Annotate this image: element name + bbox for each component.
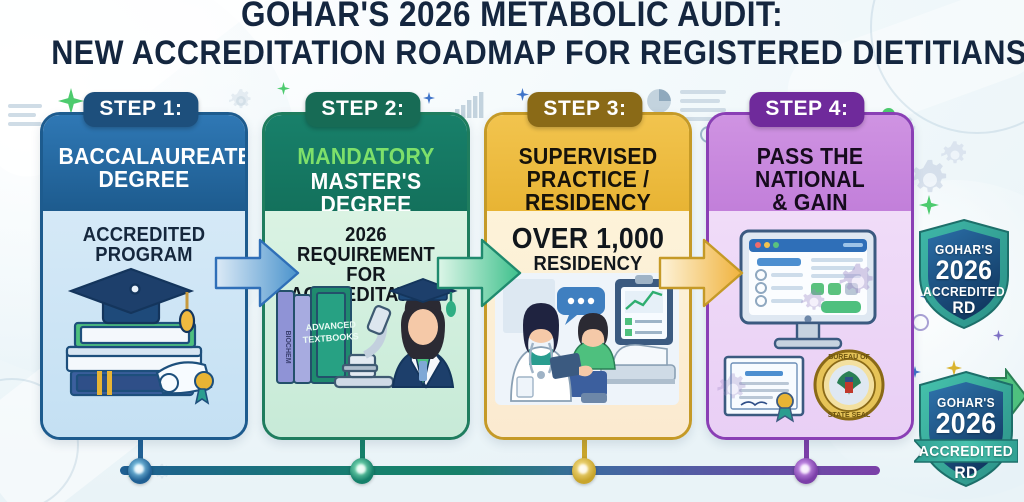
step-3-header: SUPERVISED PRACTICE / RESIDENCY bbox=[487, 115, 689, 211]
timeline-node-step-3[interactable] bbox=[572, 458, 596, 484]
step-4-heading-line-1: PASS THE NATIONAL bbox=[724, 145, 895, 191]
timeline-node-step-4[interactable] bbox=[794, 458, 818, 484]
step-3-heading-line-1: SUPERVISED bbox=[502, 145, 673, 168]
gear-icon bbox=[838, 262, 878, 307]
step-2-heading-line-1: MANDATORY bbox=[280, 145, 451, 168]
badge-top-line-3: ACCREDITED bbox=[920, 284, 1008, 299]
title-line-2: NEW ACCREDITATION ROADMAP FOR REGISTERED… bbox=[51, 35, 973, 71]
step-2-heading-line-2: MASTER'S DEGREE bbox=[280, 170, 451, 216]
step-4-header: PASS THE NATIONAL & GAIN LICENSURE bbox=[709, 115, 911, 211]
accreditation-badge-bottom[interactable]: GOHAR'S 2026 ACCREDITED RD bbox=[914, 368, 1018, 495]
sparkle-icon bbox=[277, 82, 290, 95]
dietitian-counseling-patient-illustration bbox=[495, 273, 679, 410]
textbooks-microscope-graduate-illustration: ADVANCED TEXTBOOKS BIOCHEM bbox=[273, 269, 459, 414]
badge-bottom-line-3: ACCREDITED bbox=[918, 443, 1014, 460]
svg-text:BIOCHEM: BIOCHEM bbox=[284, 330, 291, 363]
step-3-heading-line-2: PRACTICE / RESIDENCY bbox=[502, 168, 673, 214]
arrow-step2-to-step3 bbox=[436, 236, 522, 310]
step-1-header: BACCALAUREATE DEGREE bbox=[43, 115, 245, 211]
accreditation-badge-top[interactable]: GOHAR'S 2026 ACCREDITED RD bbox=[916, 218, 1012, 335]
badge-bottom-line-4: RD bbox=[918, 463, 1014, 483]
arrow-step3-to-step4 bbox=[658, 236, 744, 310]
sparkle-icon bbox=[423, 92, 435, 104]
step-4-pill: STEP 4: bbox=[749, 92, 864, 127]
timeline-node-step-1[interactable] bbox=[128, 458, 152, 484]
step-1-body-line-1: ACCREDITED bbox=[60, 225, 227, 245]
sparkle-icon bbox=[58, 88, 84, 114]
step-2-header: MANDATORY MASTER'S DEGREE bbox=[265, 115, 467, 211]
step-2-pill: STEP 2: bbox=[305, 92, 420, 127]
badge-top-line-2: 2026 bbox=[920, 255, 1008, 286]
title-line-1: GOHAR'S 2026 METABOLIC AUDIT: bbox=[51, 0, 973, 33]
step-1-heading-line-1: BACCALAUREATE bbox=[58, 145, 229, 168]
timeline-bar bbox=[120, 466, 880, 475]
timeline-node-step-2[interactable] bbox=[350, 458, 374, 484]
arrow-step1-to-step2 bbox=[214, 236, 300, 310]
text-lines-icon bbox=[8, 104, 42, 131]
badge-bottom-line-2: 2026 bbox=[918, 408, 1014, 441]
step-3-body-line-1: OVER 1,000 bbox=[504, 225, 671, 254]
step-1-body-line-2: PROGRAM bbox=[60, 245, 227, 265]
gear-icon bbox=[908, 158, 952, 207]
graduation-cap-on-books-illustration bbox=[49, 263, 237, 418]
svg-text:BUREAU OF: BUREAU OF bbox=[828, 354, 870, 361]
step-1-heading-line-2: DEGREE bbox=[58, 168, 229, 191]
step-2-body-line-1: 2026 REQUIREMENT bbox=[282, 225, 449, 265]
infographic-title: GOHAR'S 2026 METABOLIC AUDIT: NEW ACCRED… bbox=[0, 0, 1024, 71]
gear-icon bbox=[716, 372, 750, 411]
svg-text:STATE SEAL: STATE SEAL bbox=[828, 412, 871, 419]
infographic-canvas: GOHAR'S 2026 METABOLIC AUDIT: NEW ACCRED… bbox=[0, 0, 1024, 502]
gear-icon bbox=[800, 288, 828, 321]
step-3-pill: STEP 3: bbox=[527, 92, 642, 127]
badge-top-line-4: RD bbox=[920, 298, 1008, 318]
step-1-pill: STEP 1: bbox=[83, 92, 198, 127]
